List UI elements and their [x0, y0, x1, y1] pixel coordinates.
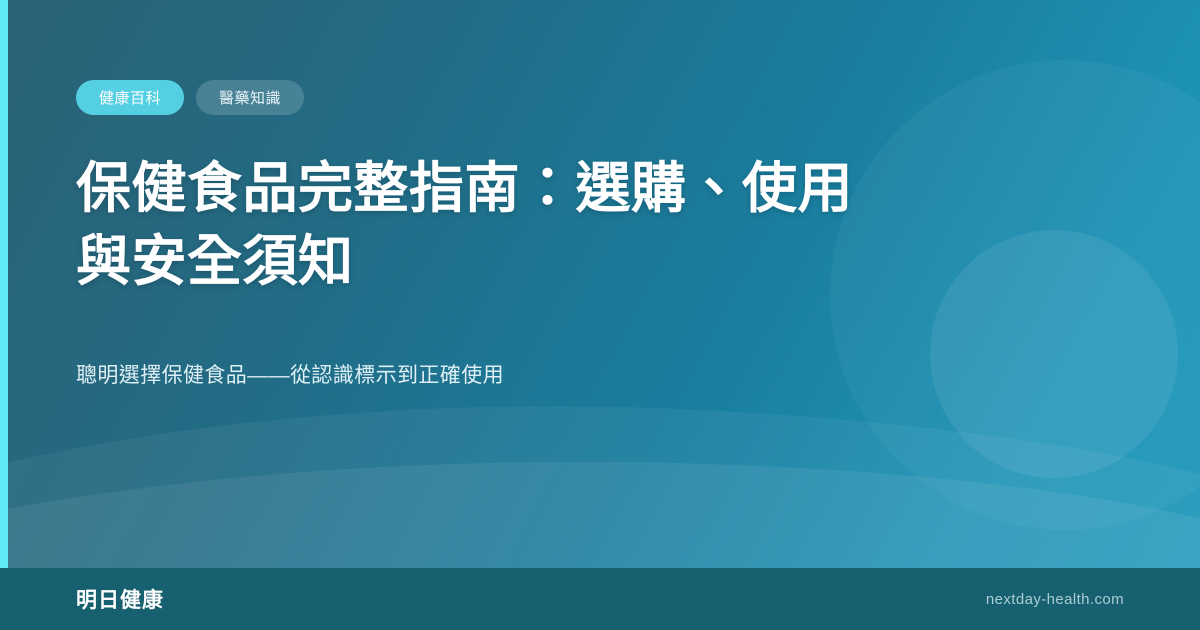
page-subtitle: 聰明選擇保健食品——從認識標示到正確使用 — [76, 360, 936, 392]
footer-bar: 明日健康 nextday-health.com — [0, 568, 1200, 630]
left-accent-bar — [0, 0, 8, 568]
content-area: 健康百科 醫藥知識 保健食品完整指南：選購、使用與安全須知 聰明選擇保健食品——… — [76, 0, 1120, 568]
page-title: 保健食品完整指南：選購、使用與安全須知 — [76, 152, 906, 298]
tag-health-encyclopedia[interactable]: 健康百科 — [76, 80, 184, 115]
site-domain: nextday-health.com — [986, 591, 1124, 608]
og-card: 健康百科 醫藥知識 保健食品完整指南：選購、使用與安全須知 聰明選擇保健食品——… — [0, 0, 1200, 630]
tag-medicine-knowledge[interactable]: 醫藥知識 — [196, 80, 304, 115]
tag-row: 健康百科 醫藥知識 — [76, 80, 304, 115]
brand-name: 明日健康 — [76, 584, 164, 614]
